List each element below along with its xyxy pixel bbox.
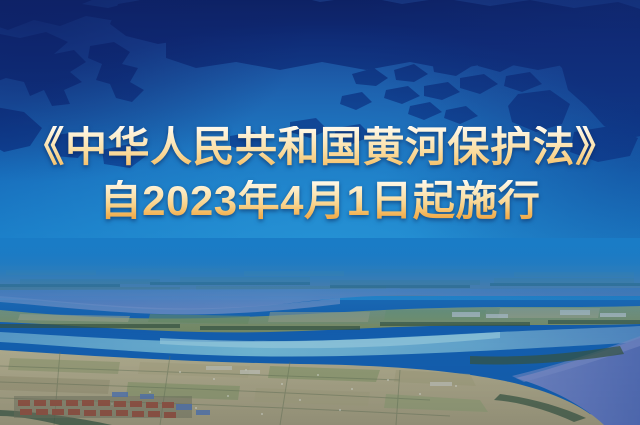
headline-block: 《中华人民共和国黄河保护法》 自2023年4月1日起施行 (0, 126, 640, 222)
headline-line-1: 《中华人民共和国黄河保护法》 (0, 126, 640, 180)
headline-line-2: 自2023年4月1日起施行 (0, 180, 640, 222)
yellow-river-aerial-photo (0, 246, 640, 425)
poster-canvas: 《中华人民共和国黄河保护法》 自2023年4月1日起施行 (0, 0, 640, 425)
